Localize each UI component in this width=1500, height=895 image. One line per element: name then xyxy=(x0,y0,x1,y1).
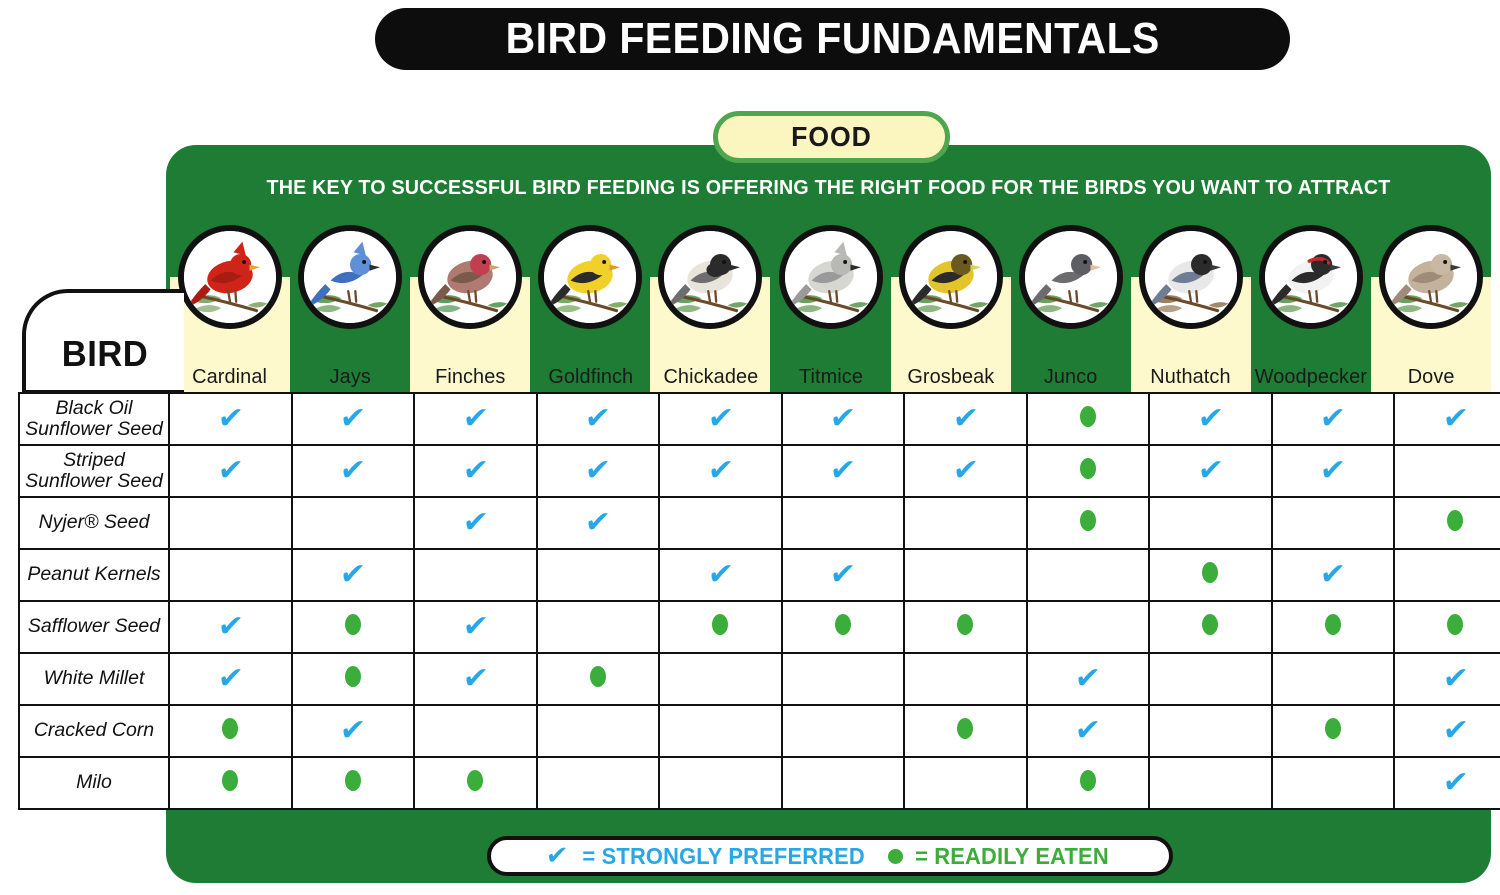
cell-striped-sunflower-seed-cardinal: ✔ xyxy=(169,445,292,497)
check-icon: ✔ xyxy=(339,456,367,486)
row-label-line: White Millet xyxy=(20,668,168,689)
dot-icon xyxy=(835,614,851,635)
cell-nyjer-seed-grosbeak xyxy=(904,497,1027,549)
check-icon: ✔ xyxy=(461,664,489,694)
bird-column-header-cardinal: Cardinal xyxy=(170,225,290,395)
dot-icon xyxy=(888,849,903,864)
bird-name-label: Goldfinch xyxy=(548,365,633,389)
dot-icon xyxy=(590,666,606,687)
row-label-cracked-corn: Cracked Corn xyxy=(19,705,169,757)
goldfinch-icon xyxy=(538,225,642,329)
cell-white-millet-finches: ✔ xyxy=(414,653,537,705)
nuthatch-icon xyxy=(1139,225,1243,329)
table-row: Cracked Corn✔✔✔ xyxy=(19,705,1500,757)
cell-nyjer-seed-nuthatch xyxy=(1149,497,1272,549)
check-icon: ✔ xyxy=(706,404,734,434)
cell-cracked-corn-junco: ✔ xyxy=(1027,705,1150,757)
cell-nyjer-seed-finches: ✔ xyxy=(414,497,537,549)
cell-peanut-kernels-finches xyxy=(414,549,537,601)
cell-milo-woodpecker xyxy=(1272,757,1395,809)
cell-peanut-kernels-chickadee: ✔ xyxy=(659,549,782,601)
cell-black-oil-sunflower-seed-goldfinch: ✔ xyxy=(537,393,660,445)
cell-white-millet-junco: ✔ xyxy=(1027,653,1150,705)
cell-striped-sunflower-seed-finches: ✔ xyxy=(414,445,537,497)
dot-icon xyxy=(1325,614,1341,635)
cell-black-oil-sunflower-seed-jays: ✔ xyxy=(292,393,415,445)
check-icon: ✔ xyxy=(951,456,979,486)
bird-column-header-dove: Dove xyxy=(1371,225,1491,395)
section-tab-food: FOOD xyxy=(713,111,950,163)
check-icon: ✔ xyxy=(1074,664,1102,694)
blue-jay-icon xyxy=(298,225,402,329)
check-icon: ✔ xyxy=(584,404,612,434)
row-label-line: Sunflower Seed xyxy=(20,419,168,440)
table-row: Peanut Kernels✔✔✔✔ xyxy=(19,549,1500,601)
bird-column-header-goldfinch: Goldfinch xyxy=(530,225,650,395)
check-icon: ✔ xyxy=(216,404,244,434)
cell-safflower-seed-titmice xyxy=(782,601,905,653)
cell-safflower-seed-grosbeak xyxy=(904,601,1027,653)
cell-nyjer-seed-chickadee xyxy=(659,497,782,549)
check-icon: ✔ xyxy=(1441,716,1469,746)
cell-safflower-seed-finches: ✔ xyxy=(414,601,537,653)
cell-cracked-corn-titmice xyxy=(782,705,905,757)
bird-column-header-grosbeak: Grosbeak xyxy=(891,225,1011,395)
check-icon: ✔ xyxy=(706,560,734,590)
legend-item-readily-eaten: = READILY EATEN xyxy=(888,843,1114,870)
row-label-line: Safflower Seed xyxy=(20,616,168,637)
check-icon: ✔ xyxy=(584,456,612,486)
bird-name-label: Grosbeak xyxy=(907,365,994,389)
bird-name-label: Jays xyxy=(329,365,370,389)
cell-white-millet-goldfinch xyxy=(537,653,660,705)
dot-icon xyxy=(1325,718,1341,739)
cell-striped-sunflower-seed-titmice: ✔ xyxy=(782,445,905,497)
cell-cracked-corn-finches xyxy=(414,705,537,757)
dot-icon xyxy=(957,718,973,739)
cell-nyjer-seed-junco xyxy=(1027,497,1150,549)
bird-name-label: Dove xyxy=(1408,365,1455,389)
row-label-line: Black Oil xyxy=(20,398,168,419)
bird-column-header-titmice: Titmice xyxy=(770,225,890,395)
cell-white-millet-woodpecker xyxy=(1272,653,1395,705)
cell-nyjer-seed-jays xyxy=(292,497,415,549)
cell-black-oil-sunflower-seed-junco xyxy=(1027,393,1150,445)
legend-label-strongly-preferred: = STRONGLY PREFERRED xyxy=(582,843,864,870)
cell-striped-sunflower-seed-chickadee: ✔ xyxy=(659,445,782,497)
grosbeak-icon xyxy=(899,225,1003,329)
cell-peanut-kernels-nuthatch xyxy=(1149,549,1272,601)
row-label-line: Sunflower Seed xyxy=(20,471,168,492)
bird-column-header-jays: Jays xyxy=(290,225,410,395)
cell-cracked-corn-grosbeak xyxy=(904,705,1027,757)
cell-peanut-kernels-dove xyxy=(1394,549,1500,601)
check-icon: ✔ xyxy=(461,404,489,434)
dot-icon xyxy=(1202,562,1218,583)
bird-column-header-chickadee: Chickadee xyxy=(650,225,770,395)
chickadee-icon xyxy=(658,225,762,329)
dot-icon xyxy=(1080,770,1096,791)
check-icon: ✔ xyxy=(829,560,857,590)
cell-black-oil-sunflower-seed-nuthatch: ✔ xyxy=(1149,393,1272,445)
cell-striped-sunflower-seed-goldfinch: ✔ xyxy=(537,445,660,497)
cell-safflower-seed-jays xyxy=(292,601,415,653)
cell-nyjer-seed-woodpecker xyxy=(1272,497,1395,549)
corner-tab-label: BIRD xyxy=(62,333,148,375)
cell-nyjer-seed-cardinal xyxy=(169,497,292,549)
check-icon: ✔ xyxy=(1319,456,1347,486)
cell-striped-sunflower-seed-woodpecker: ✔ xyxy=(1272,445,1395,497)
dot-icon xyxy=(345,770,361,791)
row-label-safflower-seed: Safflower Seed xyxy=(19,601,169,653)
check-icon: ✔ xyxy=(1319,404,1347,434)
table-row: StripedSunflower Seed✔✔✔✔✔✔✔✔✔ xyxy=(19,445,1500,497)
check-icon: ✔ xyxy=(1196,404,1224,434)
cell-striped-sunflower-seed-jays: ✔ xyxy=(292,445,415,497)
cell-white-millet-jays xyxy=(292,653,415,705)
page-title: BIRD FEEDING FUNDAMENTALS xyxy=(505,14,1159,64)
cell-milo-dove: ✔ xyxy=(1394,757,1500,809)
check-icon: ✔ xyxy=(339,560,367,590)
titmouse-icon xyxy=(779,225,883,329)
cardinal-icon xyxy=(178,225,282,329)
row-label-peanut-kernels: Peanut Kernels xyxy=(19,549,169,601)
row-label-line: Milo xyxy=(20,772,168,793)
table-row: Nyjer® Seed✔✔ xyxy=(19,497,1500,549)
bird-name-label: Nuthatch xyxy=(1151,365,1231,389)
cell-peanut-kernels-junco xyxy=(1027,549,1150,601)
dot-icon xyxy=(345,666,361,687)
house-finch-icon xyxy=(418,225,522,329)
check-icon: ✔ xyxy=(829,456,857,486)
cell-milo-chickadee xyxy=(659,757,782,809)
dot-icon xyxy=(1080,458,1096,479)
cell-black-oil-sunflower-seed-woodpecker: ✔ xyxy=(1272,393,1395,445)
check-icon: ✔ xyxy=(216,456,244,486)
table-row: Milo✔ xyxy=(19,757,1500,809)
matrix-table: Black OilSunflower Seed✔✔✔✔✔✔✔✔✔✔Striped… xyxy=(18,392,1500,810)
check-icon: ✔ xyxy=(951,404,979,434)
cell-safflower-seed-dove xyxy=(1394,601,1500,653)
bird-column-header-nuthatch: Nuthatch xyxy=(1131,225,1251,395)
legend-item-strongly-preferred: ✔ = STRONGLY PREFERRED xyxy=(546,843,872,870)
check-icon: ✔ xyxy=(1196,456,1224,486)
dot-icon xyxy=(222,770,238,791)
cell-cracked-corn-chickadee xyxy=(659,705,782,757)
cell-cracked-corn-woodpecker xyxy=(1272,705,1395,757)
food-bird-matrix: Black OilSunflower Seed✔✔✔✔✔✔✔✔✔✔Striped… xyxy=(18,392,1491,840)
check-icon: ✔ xyxy=(461,456,489,486)
check-icon: ✔ xyxy=(1319,560,1347,590)
cell-striped-sunflower-seed-dove xyxy=(1394,445,1500,497)
dot-icon xyxy=(345,614,361,635)
cell-milo-finches xyxy=(414,757,537,809)
dot-icon xyxy=(1080,510,1096,531)
table-row: Black OilSunflower Seed✔✔✔✔✔✔✔✔✔✔ xyxy=(19,393,1500,445)
dot-icon xyxy=(1447,614,1463,635)
check-icon: ✔ xyxy=(339,716,367,746)
bird-name-label: Junco xyxy=(1044,365,1098,389)
cell-peanut-kernels-cardinal xyxy=(169,549,292,601)
cell-peanut-kernels-goldfinch xyxy=(537,549,660,601)
cell-safflower-seed-chickadee xyxy=(659,601,782,653)
check-icon: ✔ xyxy=(545,843,570,869)
cell-peanut-kernels-jays: ✔ xyxy=(292,549,415,601)
cell-milo-nuthatch xyxy=(1149,757,1272,809)
cell-cracked-corn-goldfinch xyxy=(537,705,660,757)
section-tab-label: FOOD xyxy=(791,121,872,153)
row-label-line: Cracked Corn xyxy=(20,720,168,741)
bird-name-label: Woodpecker xyxy=(1255,365,1367,389)
mourning-dove-icon xyxy=(1379,225,1483,329)
check-icon: ✔ xyxy=(1441,768,1469,798)
dot-icon xyxy=(467,770,483,791)
corner-tab-bird: BIRD xyxy=(22,289,184,394)
row-label-line: Peanut Kernels xyxy=(20,564,168,585)
cell-white-millet-cardinal: ✔ xyxy=(169,653,292,705)
cell-white-millet-chickadee xyxy=(659,653,782,705)
cell-cracked-corn-dove: ✔ xyxy=(1394,705,1500,757)
cell-striped-sunflower-seed-nuthatch: ✔ xyxy=(1149,445,1272,497)
woodpecker-icon xyxy=(1259,225,1363,329)
cell-white-millet-dove: ✔ xyxy=(1394,653,1500,705)
dot-icon xyxy=(1447,510,1463,531)
cell-black-oil-sunflower-seed-chickadee: ✔ xyxy=(659,393,782,445)
cell-black-oil-sunflower-seed-finches: ✔ xyxy=(414,393,537,445)
legend-label-readily-eaten: = READILY EATEN xyxy=(915,843,1109,870)
dot-icon xyxy=(712,614,728,635)
check-icon: ✔ xyxy=(216,664,244,694)
cell-safflower-seed-goldfinch xyxy=(537,601,660,653)
cell-milo-goldfinch xyxy=(537,757,660,809)
check-icon: ✔ xyxy=(216,612,244,642)
bird-name-label: Titmice xyxy=(799,365,863,389)
bird-name-label: Finches xyxy=(435,365,505,389)
dot-icon xyxy=(222,718,238,739)
cell-nyjer-seed-dove xyxy=(1394,497,1500,549)
cell-white-millet-nuthatch xyxy=(1149,653,1272,705)
row-label-white-millet: White Millet xyxy=(19,653,169,705)
check-icon: ✔ xyxy=(1441,664,1469,694)
bird-header-strip: Cardinal Jays xyxy=(170,225,1491,395)
cell-black-oil-sunflower-seed-titmice: ✔ xyxy=(782,393,905,445)
table-row: White Millet✔✔✔✔ xyxy=(19,653,1500,705)
junco-icon xyxy=(1019,225,1123,329)
legend: ✔ = STRONGLY PREFERRED = READILY EATEN xyxy=(487,836,1173,876)
cell-safflower-seed-junco xyxy=(1027,601,1150,653)
row-label-line: Striped xyxy=(20,450,168,471)
subtitle: THE KEY TO SUCCESSFUL BIRD FEEDING IS OF… xyxy=(193,176,1465,200)
cell-safflower-seed-woodpecker xyxy=(1272,601,1395,653)
cell-white-millet-grosbeak xyxy=(904,653,1027,705)
cell-black-oil-sunflower-seed-grosbeak: ✔ xyxy=(904,393,1027,445)
title-banner: BIRD FEEDING FUNDAMENTALS xyxy=(375,8,1290,70)
row-label-striped-sunflower-seed: StripedSunflower Seed xyxy=(19,445,169,497)
cell-white-millet-titmice xyxy=(782,653,905,705)
cell-black-oil-sunflower-seed-dove: ✔ xyxy=(1394,393,1500,445)
row-label-black-oil-sunflower-seed: Black OilSunflower Seed xyxy=(19,393,169,445)
bird-column-header-junco: Junco xyxy=(1011,225,1131,395)
cell-milo-cardinal xyxy=(169,757,292,809)
check-icon: ✔ xyxy=(1441,404,1469,434)
cell-black-oil-sunflower-seed-cardinal: ✔ xyxy=(169,393,292,445)
cell-peanut-kernels-titmice: ✔ xyxy=(782,549,905,601)
check-icon: ✔ xyxy=(706,456,734,486)
cell-striped-sunflower-seed-grosbeak: ✔ xyxy=(904,445,1027,497)
check-icon: ✔ xyxy=(461,612,489,642)
cell-milo-junco xyxy=(1027,757,1150,809)
cell-striped-sunflower-seed-junco xyxy=(1027,445,1150,497)
bird-name-label: Cardinal xyxy=(193,365,268,389)
row-label-nyjer-seed: Nyjer® Seed xyxy=(19,497,169,549)
dot-icon xyxy=(957,614,973,635)
check-icon: ✔ xyxy=(461,508,489,538)
cell-nyjer-seed-titmice xyxy=(782,497,905,549)
cell-cracked-corn-jays: ✔ xyxy=(292,705,415,757)
bird-name-label: Chickadee xyxy=(663,365,758,389)
cell-peanut-kernels-woodpecker: ✔ xyxy=(1272,549,1395,601)
check-icon: ✔ xyxy=(829,404,857,434)
cell-peanut-kernels-grosbeak xyxy=(904,549,1027,601)
check-icon: ✔ xyxy=(584,508,612,538)
bird-column-header-finches: Finches xyxy=(410,225,530,395)
dot-icon xyxy=(1080,406,1096,427)
table-row: Safflower Seed✔✔ xyxy=(19,601,1500,653)
cell-milo-jays xyxy=(292,757,415,809)
check-icon: ✔ xyxy=(339,404,367,434)
cell-safflower-seed-nuthatch xyxy=(1149,601,1272,653)
row-label-milo: Milo xyxy=(19,757,169,809)
cell-milo-grosbeak xyxy=(904,757,1027,809)
cell-cracked-corn-cardinal xyxy=(169,705,292,757)
cell-safflower-seed-cardinal: ✔ xyxy=(169,601,292,653)
cell-milo-titmice xyxy=(782,757,905,809)
dot-icon xyxy=(1202,614,1218,635)
row-label-line: Nyjer® Seed xyxy=(20,512,168,533)
cell-nyjer-seed-goldfinch: ✔ xyxy=(537,497,660,549)
cell-cracked-corn-nuthatch xyxy=(1149,705,1272,757)
bird-column-header-woodpecker: Woodpecker xyxy=(1251,225,1371,395)
check-icon: ✔ xyxy=(1074,716,1102,746)
